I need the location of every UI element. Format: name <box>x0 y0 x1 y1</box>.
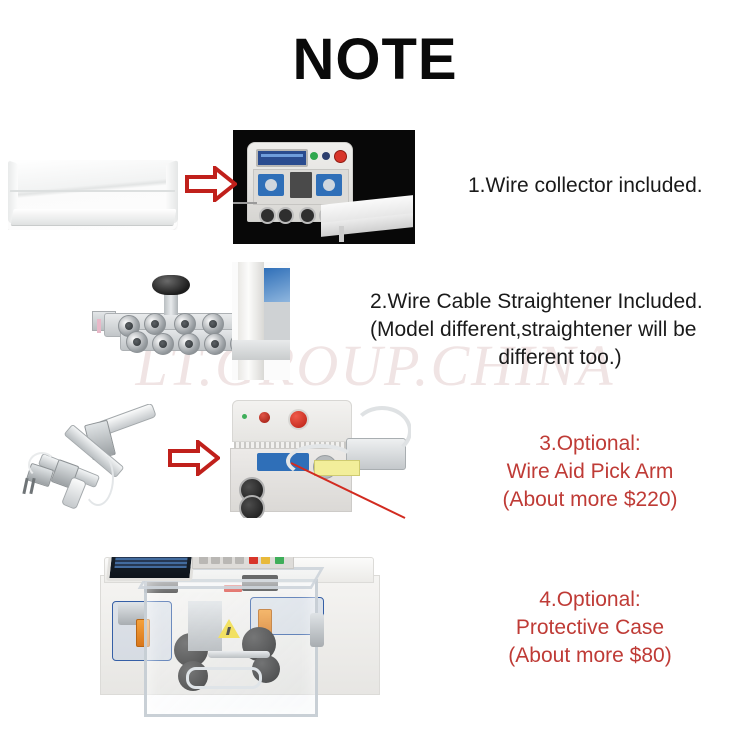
tray-fold-line <box>10 190 175 192</box>
status-led-icon <box>242 414 247 419</box>
machine-photo-row2 <box>232 262 290 380</box>
machine-base-plate <box>232 340 290 360</box>
case-latch <box>310 613 324 647</box>
machine-top-panel <box>232 400 352 442</box>
air-tube <box>28 452 56 478</box>
cutter-block <box>290 172 312 198</box>
caption-line: (Model different,straightener will be <box>370 316 750 344</box>
straightener-roller <box>144 313 166 335</box>
adjustment-knob <box>152 275 190 295</box>
green-button-icon <box>310 152 318 160</box>
straightener-roller <box>174 313 196 335</box>
machine-display <box>256 149 308 167</box>
straightener-roller <box>178 333 200 355</box>
keypad <box>192 557 294 569</box>
air-hose <box>352 406 411 456</box>
acrylic-protective-case <box>144 579 318 717</box>
blue-button-icon <box>322 152 330 160</box>
straightener-roller <box>152 333 174 355</box>
caption-line: 4.Optional: <box>440 586 740 614</box>
caption-line: 1.Wire collector included. <box>468 172 748 200</box>
tray-lip <box>11 209 177 226</box>
roller <box>277 207 294 224</box>
tray-support-leg <box>339 226 344 242</box>
key <box>199 557 208 564</box>
caption-line: (About more $80) <box>440 642 740 670</box>
arrow-right-icon-1 <box>185 166 237 207</box>
page-title: NOTE <box>0 26 750 93</box>
blue-guide-left <box>258 174 284 196</box>
machine-column <box>238 262 264 380</box>
machine-photo-row3 <box>226 400 411 518</box>
roller <box>259 207 276 224</box>
key-green <box>275 557 284 564</box>
key-yellow <box>261 557 270 564</box>
caption-line: (About more $220) <box>440 486 740 514</box>
straightener-roller <box>126 331 148 353</box>
caption-line: 2.Wire Cable Straightener Included. <box>370 288 750 316</box>
roller <box>299 207 316 224</box>
red-button-icon <box>259 412 270 423</box>
caption-line: Wire Aid Pick Arm <box>440 458 740 486</box>
gripper-finger <box>22 478 28 494</box>
control-display <box>106 557 196 581</box>
arrow-right-icon-2 <box>168 440 220 481</box>
caption-line: different too.) <box>370 344 750 372</box>
blue-panel-decal <box>264 268 290 302</box>
straightener-marker <box>97 319 101 333</box>
key <box>223 557 232 564</box>
caption-item-1: 1.Wire collector included. <box>468 172 748 200</box>
feed-roller <box>239 495 265 518</box>
case-handle <box>186 667 262 689</box>
air-hose <box>286 444 356 478</box>
machine-front-panel <box>253 169 349 205</box>
caption-item-4: 4.Optional: Protective Case (About more … <box>440 586 740 670</box>
air-tube <box>82 450 114 506</box>
caption-line: Protective Case <box>440 614 740 642</box>
machine-with-protective-case-image <box>100 557 400 730</box>
blue-guide-right <box>316 174 342 196</box>
straightener-roller <box>202 313 224 335</box>
note-page: LT.GROUP.CHINA NOTE <box>0 0 750 750</box>
key <box>211 557 220 564</box>
key <box>235 557 244 564</box>
machine-photo-row1 <box>233 130 415 244</box>
wire-collector-tray-image <box>8 160 178 230</box>
caption-line: 3.Optional: <box>440 430 740 458</box>
caption-item-2: 2.Wire Cable Straightener Included. (Mod… <box>370 288 750 372</box>
emergency-stop-icon <box>334 150 347 163</box>
machine-grey-panel <box>264 302 290 342</box>
emergency-stop-icon <box>288 409 309 430</box>
caption-item-3: 3.Optional: Wire Aid Pick Arm (About mor… <box>440 430 740 514</box>
straightener-roller <box>204 333 226 355</box>
pneumatic-pick-arm-image <box>14 404 164 509</box>
key-red <box>249 557 258 564</box>
